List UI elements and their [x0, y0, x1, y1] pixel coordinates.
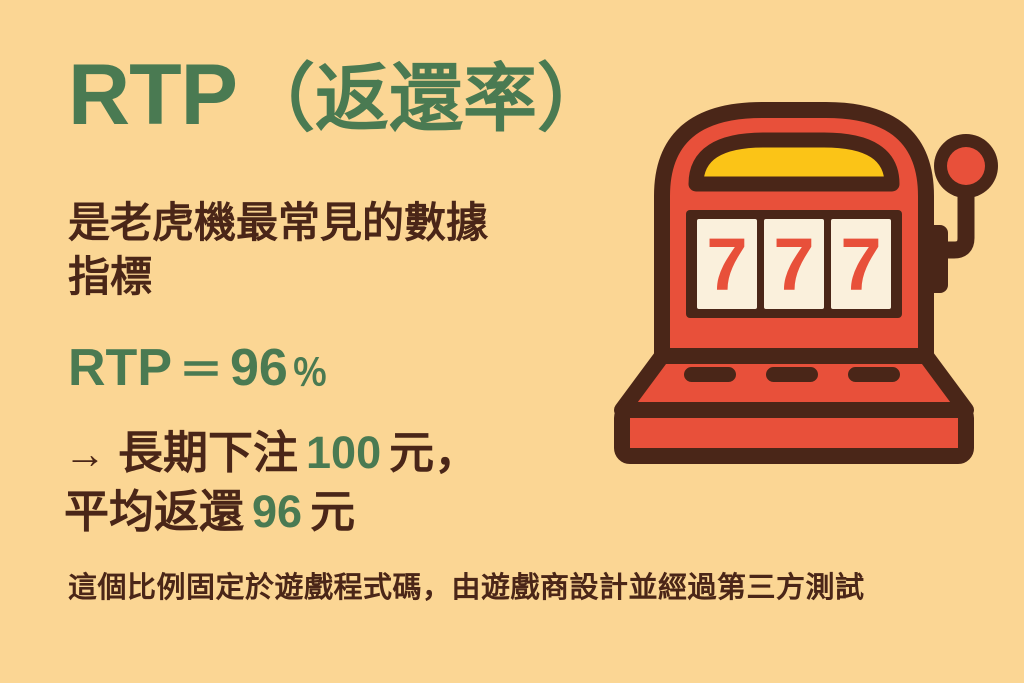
- reel-2-symbol: 7: [773, 223, 814, 306]
- machine-base: [622, 410, 966, 456]
- subtitle: 是老虎機最常見的數據 指標: [68, 196, 628, 304]
- reel-3-symbol: 7: [840, 223, 881, 306]
- title-latin-text: RTP: [68, 52, 237, 138]
- arrow-icon: →: [64, 430, 106, 477]
- rtp-formula: RTP ＝ 96 ％: [68, 342, 328, 394]
- explanation-line-2-text-b: 元: [310, 486, 355, 537]
- explanation-block: →長期下注100元， 平均返還96元: [64, 424, 664, 541]
- infographic-canvas: RTP （返還率） 是老虎機最常見的數據 指標 RTP ＝ 96 ％ →長期下注…: [0, 0, 1024, 683]
- explanation-line-2: 平均返還96元: [64, 483, 664, 542]
- explanation-line-1-value: 100: [306, 427, 381, 478]
- lever-knob: [947, 147, 985, 185]
- explanation-line-2-text-a: 平均返還: [64, 486, 244, 537]
- top-banner: [696, 140, 892, 184]
- reel-window: 7 7 7: [686, 210, 902, 318]
- subtitle-line-2: 指標: [68, 250, 628, 304]
- subtitle-line-1: 是老虎機最常見的數據: [68, 196, 628, 250]
- formula-label: RTP: [68, 342, 172, 394]
- explanation-line-1-text-a: 長期下注: [118, 427, 298, 478]
- formula-equals-sign: ＝: [179, 349, 223, 393]
- deck-slot-1: [684, 367, 736, 382]
- explanation-line-2-value: 96: [252, 486, 302, 537]
- slot-machine-icon: 7 7 7: [614, 88, 1014, 466]
- footer-caption: 這個比例固定於遊戲程式碼，由遊戲商設計並經過第三方測試: [68, 564, 865, 606]
- deck-slot-2: [766, 367, 818, 382]
- explanation-line-1: →長期下注100元，: [64, 424, 664, 483]
- formula-value: 96: [230, 342, 288, 394]
- title-cjk-text: （返還率）: [241, 62, 611, 136]
- reel-1-symbol: 7: [706, 223, 747, 306]
- machine-deck: [622, 356, 966, 410]
- explanation-line-1-text-b: 元，: [389, 427, 479, 478]
- page-title: RTP （返還率）: [68, 52, 611, 138]
- formula-percent-sign: ％: [292, 355, 328, 391]
- deck-slot-3: [848, 367, 900, 382]
